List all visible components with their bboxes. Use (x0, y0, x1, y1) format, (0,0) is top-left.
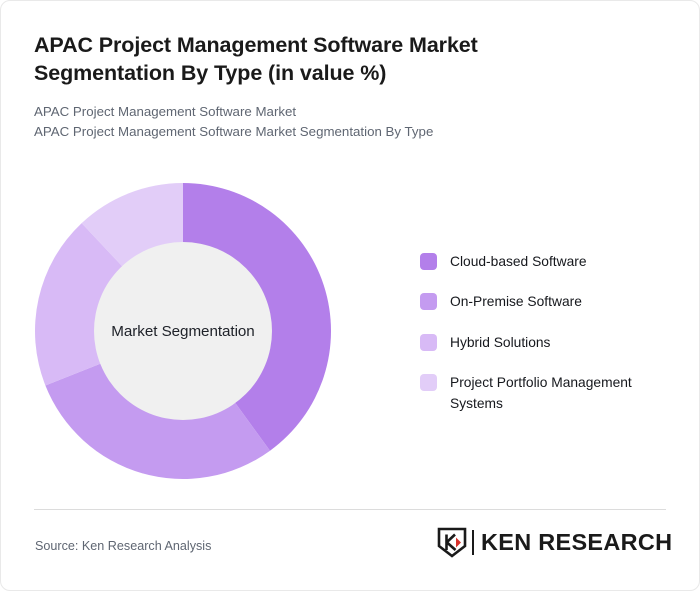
legend-item[interactable]: Project Portfolio Management Systems (420, 373, 682, 414)
legend-item-label: Project Portfolio Management Systems (450, 373, 672, 414)
legend-item-label: Cloud-based Software (450, 252, 587, 272)
legend-item-label: On-Premise Software (450, 292, 582, 312)
source-note: Source: Ken Research Analysis (35, 539, 211, 553)
footer-divider (34, 509, 666, 510)
legend-item[interactable]: On-Premise Software (420, 292, 682, 312)
legend-swatch-icon (420, 374, 437, 391)
subtitle-block: APAC Project Management Software Market … (34, 102, 669, 142)
logo-wordmark: KEN RESEARCH (481, 531, 672, 554)
donut-chart: Market Segmentation (33, 181, 333, 481)
legend-item-label: Hybrid Solutions (450, 333, 550, 353)
ken-research-logo: KEN RESEARCH (437, 525, 669, 559)
page-title: APAC Project Management Software Market … (34, 31, 574, 88)
subtitle-secondary: APAC Project Management Software Market … (34, 122, 669, 142)
subtitle-primary: APAC Project Management Software Market (34, 102, 669, 122)
legend-item[interactable]: Hybrid Solutions (420, 333, 682, 353)
legend-swatch-icon (420, 293, 437, 310)
chart-legend: Cloud-based Software On-Premise Software… (420, 252, 682, 414)
legend-swatch-icon (420, 334, 437, 351)
chart-area: Market Segmentation Cloud-based Software… (1, 169, 700, 499)
donut-svg (33, 181, 333, 481)
legend-item[interactable]: Cloud-based Software (420, 252, 682, 272)
chart-card: APAC Project Management Software Market … (0, 0, 700, 591)
donut-hole (94, 242, 272, 420)
legend-swatch-icon (420, 253, 437, 270)
header: APAC Project Management Software Market … (34, 31, 669, 142)
ken-research-logo-mark-icon (437, 526, 467, 558)
logo-divider (472, 530, 474, 555)
